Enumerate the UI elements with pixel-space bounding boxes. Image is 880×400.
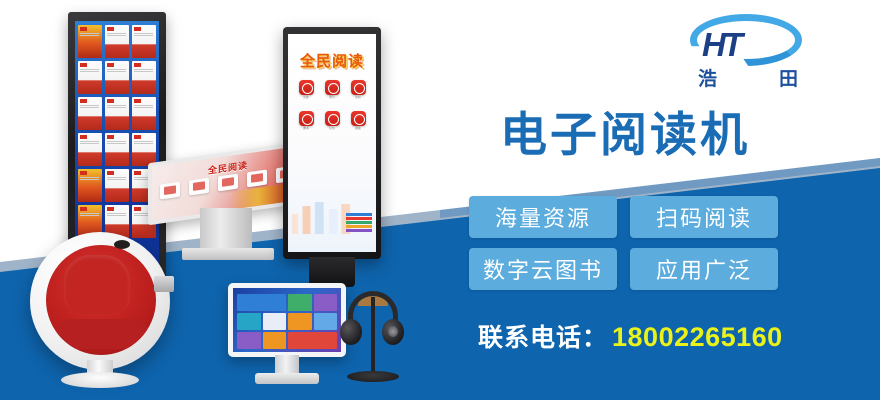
- book-stack-illustration: [346, 213, 372, 237]
- book-cover: [105, 97, 129, 130]
- app-icon-cell: 新闻: [348, 80, 368, 100]
- contact-line: 联系电话： 18002265160: [478, 318, 783, 354]
- tile: [288, 313, 312, 330]
- contact-label: 联系电话：: [478, 318, 608, 354]
- tabletop-card-icon: [189, 178, 209, 196]
- tabletop-card-icon: [218, 174, 238, 192]
- stand-pole: [371, 297, 375, 375]
- tile: [288, 332, 337, 349]
- book-cover: [105, 25, 129, 58]
- tabletop-foot: [182, 248, 274, 260]
- app-icon-cell: 期刊: [322, 80, 342, 100]
- tile: [314, 294, 338, 311]
- app-icon-cell: 视频: [348, 111, 368, 131]
- brand-logo: HT 浩 田: [684, 12, 804, 94]
- tablet-tile-screen: [233, 288, 341, 352]
- book-icon: [299, 80, 314, 95]
- monitor-base: [255, 373, 319, 384]
- feature-box-digital-cloud-library[interactable]: 数字云图书: [469, 248, 617, 290]
- reading-app-icon-grid: 党建 期刊 新闻 图书: [296, 80, 368, 130]
- book-cover: [105, 133, 129, 166]
- app-icon-label: 期刊: [322, 97, 342, 100]
- book-cover: [132, 61, 156, 94]
- monitor-neck: [275, 355, 299, 375]
- tabletop-card-icon: [247, 170, 267, 188]
- book-cover: [78, 25, 102, 58]
- app-icon-label: 红色: [322, 128, 342, 131]
- product-scene: 全民阅读 全民阅读: [0, 0, 450, 400]
- feature-box-wide-application[interactable]: 应用广泛: [630, 248, 778, 290]
- tile: [237, 332, 261, 349]
- book-cover: [105, 61, 129, 94]
- chair-seat: [56, 319, 148, 349]
- headphone-stand: [338, 283, 408, 393]
- book-cover: [132, 97, 156, 130]
- chair-pedestal: [61, 372, 139, 388]
- chair-speaker-icon: [114, 240, 130, 249]
- desktop-tablet-monitor: [228, 283, 346, 388]
- stand-base: [347, 371, 399, 382]
- logo-company-name: 浩 田: [698, 64, 798, 91]
- app-icon-label: 新闻: [348, 97, 368, 100]
- feature-grid: 海量资源 扫码阅读 数字云图书 应用广泛: [469, 196, 778, 290]
- book-cover: [78, 61, 102, 94]
- tile: [263, 313, 287, 330]
- app-icon-label: 图书: [296, 128, 316, 131]
- headphone-earcup: [340, 319, 362, 345]
- feature-box-massive-resources[interactable]: 海量资源: [469, 196, 617, 238]
- tablet-frame: [228, 283, 346, 357]
- tabletop-stand: [200, 208, 252, 250]
- book-cover: [78, 97, 102, 130]
- party-emblem-icon: [325, 111, 340, 126]
- logo-cn-char-1: 浩: [698, 64, 717, 91]
- tabletop-card-icon: [160, 182, 180, 200]
- logo-cn-char-2: 田: [779, 64, 798, 91]
- reading-app-title: 全民阅读: [300, 50, 364, 71]
- app-icon-label: 党建: [296, 97, 316, 100]
- tile: [237, 294, 286, 311]
- ball-reading-chair: [30, 232, 180, 392]
- chair-backrest: [64, 255, 130, 315]
- news-icon: [351, 80, 366, 95]
- book-cover: [132, 25, 156, 58]
- book-cover: [105, 169, 129, 202]
- chair-control-panel: [154, 276, 174, 292]
- app-icon-label: 视频: [348, 128, 368, 131]
- app-icon-cell: 图书: [296, 111, 316, 131]
- app-icon-cell: 党建: [296, 80, 316, 100]
- location-icon: [351, 111, 366, 126]
- book-cover: [78, 169, 102, 202]
- tile: [263, 332, 287, 349]
- logo-mark-text: HT: [702, 26, 740, 64]
- magazine-icon: [325, 80, 340, 95]
- tile: [237, 313, 261, 330]
- tile: [288, 294, 312, 311]
- vertical-reading-kiosk: 全民阅读 党建 期刊 新闻: [283, 27, 381, 259]
- book-cover: [78, 133, 102, 166]
- reading-app-screen: 全民阅读 党建 期刊 新闻: [288, 34, 376, 252]
- chair-interior: [46, 245, 156, 355]
- contact-phone-number[interactable]: 18002265160: [612, 322, 783, 353]
- promo-banner: 全民阅读 全民阅读: [0, 0, 880, 400]
- banner-title: 电子阅读机: [500, 112, 750, 159]
- app-icon-cell: 红色: [322, 111, 342, 131]
- headphone-earcup: [382, 319, 404, 345]
- feature-box-scan-to-read[interactable]: 扫码阅读: [630, 196, 778, 238]
- tile: [314, 313, 338, 330]
- check-icon: [299, 111, 314, 126]
